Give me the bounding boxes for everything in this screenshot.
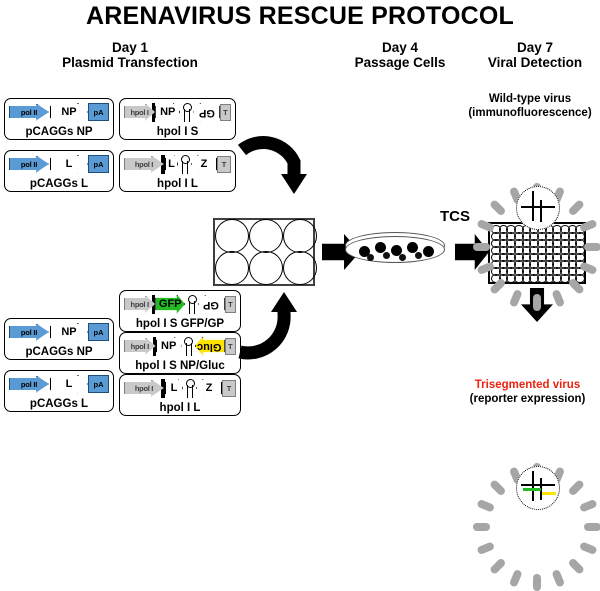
- well: [283, 219, 317, 253]
- virus-segment: [532, 191, 534, 221]
- gene-np-arrow: NP: [50, 103, 88, 122]
- timeline-day-1: Day 1 Plasmid Transfection: [20, 40, 240, 70]
- gene-gp-arrow-inverted: GP: [198, 295, 225, 314]
- virus-segment-gfp: [523, 488, 541, 491]
- promoter-hpol-i-icon: hpol I: [124, 338, 156, 355]
- wildtype-virus-icon: [494, 164, 580, 250]
- virus-ray: [579, 499, 598, 513]
- plasmid-pcaggs-np-bottom: pol II NP pA pCAGGs NP: [4, 318, 114, 360]
- plasmid-label: hpol I S NP/Gluc: [120, 360, 240, 372]
- well: [215, 251, 249, 285]
- gene-np-arrow: NP: [155, 103, 180, 122]
- well: [283, 251, 317, 285]
- promoter-pol-ii-icon: pol II: [9, 376, 49, 393]
- terminator-t-box: T: [220, 104, 231, 121]
- timeline-day-7: Day 7 Viral Detection: [470, 40, 600, 70]
- plasmid-hpol-i-l-top: hpol I L Z T hpol I L: [119, 150, 236, 192]
- virus-ray: [473, 243, 490, 251]
- virus-body: [516, 466, 560, 510]
- gene-gluc-arrow-inverted: Gluc: [195, 337, 225, 356]
- virus-ray: [489, 479, 507, 497]
- virus-ray: [476, 541, 495, 555]
- virus-ray: [579, 541, 598, 555]
- virus-ray: [476, 499, 495, 513]
- promoter-hpol-i-icon: hpol I: [124, 104, 155, 121]
- promoter-hpol-i-icon: hpol I: [124, 380, 164, 397]
- plasmid-label: hpol I L: [120, 178, 235, 190]
- tcs-label: TCS: [440, 208, 470, 225]
- day-4-label: Day 4: [345, 40, 455, 55]
- virus-segment: [532, 471, 534, 501]
- day-4-step: Passage Cells: [345, 55, 455, 70]
- infected-cell: [367, 254, 374, 261]
- trisegmented-line2: (reporter expression): [455, 392, 600, 406]
- plasmid-label: pCAGGs L: [5, 178, 113, 190]
- day-7-label: Day 7: [470, 40, 600, 55]
- terminator-t-box: T: [222, 380, 236, 397]
- virus-ray: [476, 219, 495, 233]
- gene-l-arrow: L: [50, 375, 88, 394]
- infected-cell: [383, 252, 390, 259]
- infected-cell: [423, 246, 434, 257]
- plasmid-label: hpol I S GFP/GP: [120, 318, 240, 330]
- plasmid-label: pCAGGs NP: [5, 346, 113, 358]
- terminator-t-box: T: [217, 156, 231, 173]
- virus-ray: [567, 557, 585, 575]
- infected-cell: [415, 252, 422, 259]
- promoter-pol-ii-icon: pol II: [9, 104, 49, 121]
- virus-body: [516, 186, 560, 230]
- cell-culture-dish: [345, 232, 445, 274]
- gene-l-arrow: L: [165, 379, 183, 398]
- gene-z-arrow-inverted: Z: [196, 379, 222, 398]
- promoter-pol-ii-icon: pol II: [9, 324, 49, 341]
- virus-ray: [579, 219, 598, 233]
- hairpin-loop-icon: [182, 337, 195, 356]
- virus-segment: [540, 200, 542, 222]
- well: [215, 219, 249, 253]
- wildtype-line1: Wild-type virus: [460, 92, 600, 106]
- plasmid-label: pCAGGs L: [5, 398, 113, 410]
- virus-ray: [533, 574, 541, 591]
- plasmid-label: pCAGGs NP: [5, 126, 113, 138]
- gene-np-arrow: NP: [156, 337, 182, 356]
- virus-segment-gluc: [542, 492, 556, 495]
- gene-gfp-arrow: GFP: [155, 295, 185, 314]
- gene-l-arrow: L: [50, 155, 88, 174]
- infected-cell: [399, 254, 406, 261]
- virus-ray: [533, 294, 541, 311]
- virus-ray: [489, 199, 507, 217]
- promoter-pol-ii-icon: pol II: [9, 156, 49, 173]
- curved-arrow-top: [236, 132, 316, 204]
- well: [249, 219, 283, 253]
- curved-arrow-bottom: [226, 288, 316, 364]
- plasmid-pcaggs-np-top: pol II NP pA pCAGGs NP: [4, 98, 114, 140]
- well: [249, 251, 283, 285]
- plasmid-hpol-i-s-np-gluc: hpol I NP Gluc T hpol I S NP/Gluc: [119, 332, 241, 374]
- day-7-step: Viral Detection: [470, 55, 600, 70]
- terminator-pa-box: pA: [88, 323, 109, 341]
- terminator-pa-box: pA: [88, 103, 109, 121]
- plasmid-pcaggs-l-top: pol II L pA pCAGGs L: [4, 150, 114, 192]
- virus-ray: [584, 523, 600, 531]
- plasmid-hpol-i-l-bottom: hpol I L Z T hpol I L: [119, 374, 241, 416]
- six-well-plate: [213, 218, 315, 286]
- gene-gp-arrow-inverted: GP: [193, 103, 220, 122]
- day-1-label: Day 1: [20, 40, 240, 55]
- trisegmented-line1: Trisegmented virus: [455, 378, 600, 392]
- gene-np-arrow: NP: [50, 323, 88, 342]
- terminator-pa-box: pA: [88, 375, 109, 393]
- gene-l-arrow: L: [165, 155, 178, 174]
- virus-ray: [473, 523, 490, 531]
- virus-segment: [521, 206, 555, 208]
- wildtype-virus-caption: Wild-type virus (immunofluorescence): [460, 92, 600, 120]
- virus-ray: [489, 557, 507, 575]
- promoter-hpol-i-icon: hpol I: [124, 296, 155, 313]
- terminator-pa-box: pA: [88, 155, 109, 173]
- day-1-step: Plasmid Transfection: [20, 55, 240, 70]
- trisegmented-virus-caption: Trisegmented virus (reporter expression): [455, 378, 600, 406]
- plasmid-label: hpol I L: [120, 402, 240, 414]
- trisegmented-virus-icon: [494, 444, 580, 530]
- virus-ray: [567, 199, 585, 217]
- plasmid-pcaggs-l-bottom: pol II L pA pCAGGs L: [4, 370, 114, 412]
- virus-segment: [521, 484, 555, 486]
- hairpin-loop-icon: [178, 155, 191, 174]
- page-title: ARENAVIRUS RESCUE PROTOCOL: [0, 2, 600, 31]
- hairpin-loop-icon: [183, 379, 196, 398]
- plasmid-hpol-i-s-top: hpol I NP GP T hpol I S: [119, 98, 236, 140]
- timeline-day-4: Day 4 Passage Cells: [345, 40, 455, 70]
- virus-ray: [567, 479, 585, 497]
- wildtype-line2: (immunofluorescence): [460, 106, 600, 120]
- plasmid-hpol-i-s-gfp-gp: hpol I GFP GP T hpol I S GFP/GP: [119, 290, 241, 332]
- gene-z-arrow-inverted: Z: [191, 155, 217, 174]
- hairpin-loop-icon: [180, 103, 193, 122]
- hairpin-loop-icon: [185, 295, 198, 314]
- virus-ray: [551, 569, 565, 588]
- virus-ray: [509, 289, 523, 308]
- promoter-hpol-i-icon: hpol I: [124, 156, 164, 173]
- virus-ray: [584, 243, 600, 251]
- plasmid-label: hpol I S: [120, 126, 235, 138]
- virus-ray: [551, 289, 565, 308]
- virus-ray: [509, 569, 523, 588]
